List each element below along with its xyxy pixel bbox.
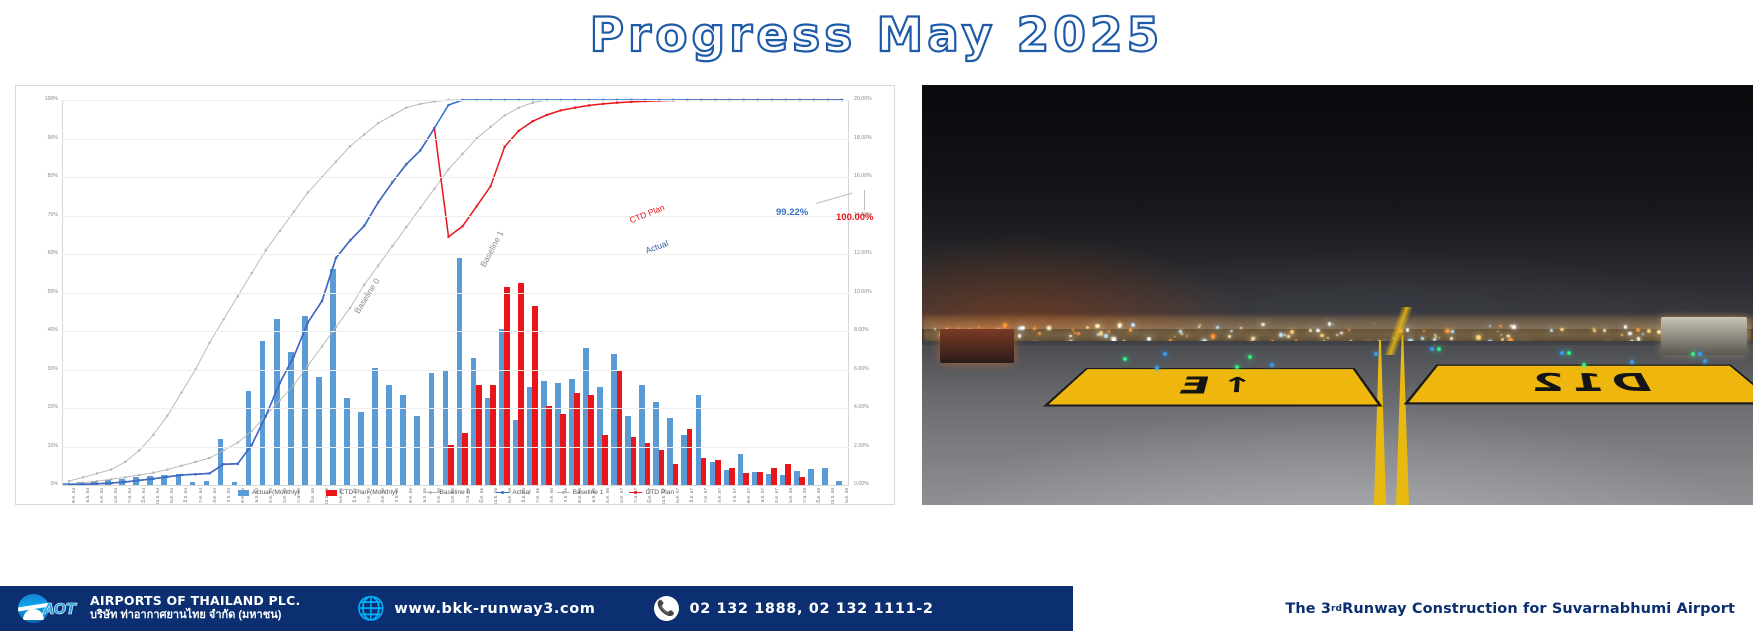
airport-light <box>1020 326 1024 330</box>
runway-marking-E: E ↑ <box>1043 368 1383 407</box>
line-baseline-0-marker <box>96 472 98 474</box>
chart-legend: Actual (Monthly)CTD Plan (Monthly)Baseli… <box>16 489 896 496</box>
airport-light <box>1489 325 1491 327</box>
line-actual-marker <box>265 415 267 417</box>
line-baseline-0-marker <box>265 249 267 251</box>
airport-light <box>1131 323 1135 327</box>
taxiway-edge-light <box>1248 355 1252 359</box>
line-baseline-1-marker <box>124 476 126 478</box>
line-actual-marker <box>377 201 379 203</box>
line-baseline-1-marker <box>532 102 534 104</box>
line-ctd-plan-marker <box>560 109 562 111</box>
airport-light <box>1348 329 1349 330</box>
legend-label: Actual (Monthly) <box>252 489 300 496</box>
line-actual-marker <box>279 382 281 384</box>
airport-light <box>1320 334 1323 337</box>
y-tick-right: 18.00% <box>854 136 872 141</box>
y-tick-left: 60% <box>48 251 58 256</box>
line-baseline-1-marker <box>335 326 337 328</box>
page-title: Progress May 2025 <box>590 8 1164 63</box>
airport-light <box>1497 331 1499 333</box>
line-ctd-plan-marker <box>476 205 478 207</box>
line-actual-marker <box>307 321 309 323</box>
chart-gridline <box>62 408 849 409</box>
line-actual-marker <box>363 225 365 227</box>
photo-sky <box>922 85 1753 329</box>
y-tick-left: 80% <box>48 174 58 179</box>
line-baseline-0-marker <box>293 211 295 213</box>
y-tick-right: 0.00% <box>854 482 869 487</box>
airport-light <box>1186 335 1188 337</box>
line-baseline-0-marker <box>377 122 379 124</box>
airport-light <box>1628 332 1632 336</box>
line-baseline-0-marker <box>223 318 225 320</box>
line-actual-marker <box>335 257 337 259</box>
line-baseline-0-marker <box>279 230 281 232</box>
line-baseline-1-marker <box>180 465 182 467</box>
line-baseline-1-marker <box>447 168 449 170</box>
line-baseline-1-marker <box>194 461 196 463</box>
phone-text: 02 132 1888, 02 132 1111-2 <box>690 601 934 617</box>
line-actual-marker <box>447 104 449 106</box>
chart-gridline <box>62 485 849 486</box>
airport-light <box>1216 326 1219 329</box>
legend-bar-swatch-icon <box>326 490 337 496</box>
line-baseline-0-marker <box>237 295 239 297</box>
taxiway-edge-light <box>1582 363 1586 367</box>
line-actual-marker <box>433 127 435 129</box>
airport-light <box>1336 334 1338 336</box>
chart-plot-area: 0%0.00%10%2.00%20%4.00%30%6.00%40%8.00%5… <box>62 100 849 485</box>
line-baseline-1-marker <box>363 284 365 286</box>
airport-light <box>1501 334 1503 336</box>
legend-label: Actual <box>512 489 530 496</box>
line-baseline-0-marker <box>307 191 309 193</box>
airport-light <box>978 326 980 328</box>
runway-night-photo: E ↑ D12 <box>922 85 1753 505</box>
line-baseline-0-marker <box>251 272 253 274</box>
y-tick-left: 40% <box>48 328 58 333</box>
line-actual-marker <box>419 149 421 151</box>
airport-light <box>1097 333 1099 335</box>
project-title-sup: rd <box>1331 604 1342 614</box>
line-baseline-1-marker <box>251 430 253 432</box>
airport-light <box>1086 326 1089 329</box>
line-baseline-1-marker <box>209 457 211 459</box>
line-baseline-1-marker <box>504 114 506 116</box>
legend-item[interactable]: CTD Plan <box>629 489 674 496</box>
airport-light <box>1230 330 1233 333</box>
y-tick-left: 50% <box>48 290 58 295</box>
y-tick-right: 10.00% <box>854 290 872 295</box>
line-baseline-0-marker <box>82 476 84 478</box>
airport-light <box>1240 327 1242 329</box>
phone-icon: 📞 <box>654 596 679 621</box>
line-baseline-0-marker <box>110 469 112 471</box>
airport-light <box>1340 332 1342 334</box>
airport-light <box>1038 332 1041 335</box>
line-ctd-plan-marker <box>490 185 492 187</box>
line-baseline-1-marker <box>377 265 379 267</box>
airport-light <box>1179 330 1182 333</box>
chart-gridline <box>62 447 849 448</box>
legend-item[interactable]: Baseline 0 <box>424 489 471 496</box>
photo-airport-lights <box>922 322 1753 343</box>
airport-light <box>1129 328 1133 332</box>
line-baseline-0-marker <box>391 114 393 116</box>
line-ctd-plan-marker <box>588 104 590 106</box>
line-baseline-0-marker <box>419 103 421 105</box>
line-actual-marker <box>293 355 295 357</box>
airport-light <box>1451 330 1454 333</box>
airport-light <box>1174 336 1176 338</box>
y-tick-left: 10% <box>48 444 58 449</box>
airport-light <box>1033 327 1036 330</box>
line-ctd-plan-marker <box>574 107 576 109</box>
legend-item[interactable]: Baseline 1 <box>557 489 604 496</box>
line-baseline-0-marker <box>363 134 365 136</box>
line-baseline-0-marker <box>152 434 154 436</box>
chart-gridline <box>62 293 849 294</box>
y-tick-right: 6.00% <box>854 367 869 372</box>
line-actual-marker <box>194 473 196 475</box>
line-ctd-plan-marker <box>447 236 449 238</box>
line-actual-marker <box>223 463 225 465</box>
legend-item[interactable]: CTD Plan (Monthly) <box>326 489 398 496</box>
line-baseline-0-marker <box>166 415 168 417</box>
line-ctd-plan-marker <box>504 146 506 148</box>
runway-arrow-icon: ↑ <box>1218 374 1269 399</box>
line-ctd-plan-marker <box>616 102 618 104</box>
project-title-pre: The 3 <box>1285 601 1331 617</box>
y-tick-left: 70% <box>48 213 58 218</box>
page-footer: AOT AIRPORTS OF THAILAND PLC. บริษัท ท่า… <box>0 586 1753 631</box>
legend-line-swatch-icon <box>496 490 509 496</box>
line-baseline-1-marker <box>518 107 520 109</box>
airport-light <box>1072 329 1074 331</box>
airport-light <box>1003 323 1008 328</box>
website-text: www.bkk-runway3.com <box>394 601 595 617</box>
taxiway-edge-light <box>1235 365 1239 369</box>
airport-light <box>1593 329 1596 332</box>
airport-light <box>1118 324 1121 327</box>
airport-light <box>1290 330 1294 334</box>
y-tick-left: 90% <box>48 136 58 141</box>
chart-gridline <box>62 216 849 217</box>
line-actual-marker <box>405 163 407 165</box>
aot-brand-en: AIRPORTS OF THAILAND PLC. <box>90 594 300 608</box>
airport-light <box>1550 329 1553 332</box>
airport-light <box>1228 335 1231 338</box>
line-baseline-1-marker <box>433 188 435 190</box>
page-title-container: Progress May 2025 <box>0 8 1753 63</box>
y-tick-left: 30% <box>48 367 58 372</box>
aot-brand-text: AIRPORTS OF THAILAND PLC. บริษัท ท่าอากา… <box>90 594 300 622</box>
aot-brand-th: บริษัท ท่าอากาศยานไทย จำกัด (มหาชน) <box>90 609 300 623</box>
airport-light <box>1199 324 1201 326</box>
line-baseline-1-marker <box>96 480 98 482</box>
chart-gridline <box>62 100 849 101</box>
legend-label: Baseline 1 <box>573 489 604 496</box>
airport-light <box>1499 325 1502 328</box>
line-baseline-0-marker <box>138 449 140 451</box>
airport-light <box>1287 335 1291 339</box>
globe-icon: 🌐 <box>358 596 383 621</box>
line-actual-marker <box>152 478 154 480</box>
airport-light <box>1332 324 1334 326</box>
airport-light <box>1621 334 1623 336</box>
airport-light <box>1261 323 1264 326</box>
airport-light <box>1507 335 1509 337</box>
line-baseline-0-marker <box>405 107 407 109</box>
airport-light <box>1077 332 1080 335</box>
y-tick-right: 20.00% <box>854 97 872 102</box>
runway-marking-label-0: E <box>1159 373 1214 400</box>
airport-light <box>1624 325 1627 328</box>
taxiway-edge-light <box>1123 357 1127 361</box>
airport-light <box>1328 322 1331 325</box>
line-actual-marker <box>209 472 211 474</box>
line-baseline-1-marker <box>279 399 281 401</box>
line-baseline-1-marker <box>391 245 393 247</box>
airport-light <box>1327 337 1329 339</box>
legend-line-swatch-icon <box>424 490 437 496</box>
legend-bar-swatch-icon <box>238 490 249 496</box>
runway-marking-D12: D12 <box>1404 365 1753 405</box>
progress-dashboard: Progress May 2025 0%0.00%10%2.00%20%4.00… <box>0 0 1753 631</box>
line-baseline-0-marker <box>349 145 351 147</box>
airport-light <box>1642 333 1644 335</box>
annotation-ctd-value: 100.00% <box>836 212 874 223</box>
line-baseline-1-marker <box>419 207 421 209</box>
legend-item[interactable]: Actual <box>496 489 530 496</box>
line-baseline-1-marker <box>152 472 154 474</box>
line-baseline-1-marker <box>293 384 295 386</box>
line-actual-marker <box>237 463 239 465</box>
taxiway-edge-light <box>1567 351 1571 355</box>
line-baseline-0-marker <box>180 392 182 394</box>
y-tick-right: 2.00% <box>854 444 869 449</box>
line-ctd-plan-marker <box>461 225 463 227</box>
line-baseline-1-marker <box>237 442 239 444</box>
line-actual-marker <box>110 482 112 484</box>
airport-light <box>1316 329 1320 333</box>
y-tick-right: 16.00% <box>854 174 872 179</box>
legend-line-swatch-icon <box>629 490 642 496</box>
line-ctd-plan-marker <box>518 130 520 132</box>
taxiway-edge-light <box>1691 352 1695 356</box>
legend-label: Baseline 0 <box>440 489 471 496</box>
airport-light <box>1099 331 1104 336</box>
line-actual-marker <box>180 474 182 476</box>
line-ctd-plan-marker <box>546 114 548 116</box>
airport-light <box>1309 329 1312 332</box>
chart-gridline <box>62 254 849 255</box>
line-baseline-0-marker <box>335 161 337 163</box>
project-title-post: Runway Construction for Suvarnabhumi Air… <box>1342 601 1735 617</box>
y-tick-right: 8.00% <box>854 328 869 333</box>
chart-gridline <box>62 370 849 371</box>
airport-light <box>1512 325 1516 329</box>
line-ctd-plan-marker <box>532 120 534 122</box>
line-actual-marker <box>166 476 168 478</box>
line-baseline-1-marker <box>461 153 463 155</box>
line-baseline-1-marker <box>349 307 351 309</box>
line-actual-marker <box>391 181 393 183</box>
airport-light <box>1445 329 1450 334</box>
line-actual-marker <box>138 479 140 481</box>
airport-light <box>1069 335 1072 338</box>
airport-light <box>1108 330 1111 333</box>
y-tick-left: 20% <box>48 405 58 410</box>
line-actual-marker <box>321 300 323 302</box>
airport-light <box>1181 333 1182 334</box>
annotation-actual-value: 99.22% <box>776 207 808 218</box>
line-baseline-0-marker <box>124 461 126 463</box>
footer-contact-bar: AOT AIRPORTS OF THAILAND PLC. บริษัท ท่า… <box>0 586 1073 631</box>
airport-light <box>1211 334 1216 339</box>
runway-taxi-curve <box>1370 307 1430 355</box>
airport-light <box>1450 337 1453 340</box>
legend-item[interactable]: Actual (Monthly) <box>238 489 300 496</box>
line-baseline-0-marker <box>68 480 70 482</box>
chart-gridline <box>62 177 849 178</box>
footer-website[interactable]: 🌐 www.bkk-runway3.com <box>358 596 595 621</box>
airport-light <box>1074 332 1076 334</box>
y-tick-right: 4.00% <box>854 405 869 410</box>
line-baseline-1-marker <box>490 126 492 128</box>
airport-light <box>1603 329 1606 332</box>
legend-label: CTD Plan (Monthly) <box>340 489 398 496</box>
line-baseline-1-marker <box>223 449 225 451</box>
airport-light <box>1284 334 1286 336</box>
airport-light <box>1104 334 1108 338</box>
photo-vehicle-left <box>940 329 1014 363</box>
line-baseline-1-marker <box>138 474 140 476</box>
airport-light <box>1279 333 1283 337</box>
runway-marking-label-1: D12 <box>1521 369 1659 398</box>
photo-vehicle-right <box>1661 317 1747 355</box>
taxiway-edge-light <box>1630 360 1634 364</box>
line-ctd-plan-marker <box>630 101 632 103</box>
legend-line-swatch-icon <box>557 490 570 496</box>
taxiway-edge-light <box>1155 366 1159 370</box>
line-baseline-0 <box>69 100 842 481</box>
y-tick-left: 100% <box>45 97 58 102</box>
y-tick-right: 12.00% <box>854 251 872 256</box>
project-title: The 3rd Runway Construction for Suvarnab… <box>1285 586 1735 631</box>
airport-light <box>1560 328 1563 331</box>
legend-label: CTD Plan <box>645 489 674 496</box>
airport-light <box>1095 324 1100 329</box>
footer-phone[interactable]: 📞 02 132 1888, 02 132 1111-2 <box>654 596 934 621</box>
line-baseline-1-marker <box>110 478 112 480</box>
airport-light <box>1047 326 1051 330</box>
line-baseline-1-marker <box>307 365 309 367</box>
airport-light <box>1647 329 1651 333</box>
airport-light <box>1476 335 1480 339</box>
line-baseline-0-marker <box>209 342 211 344</box>
airport-light <box>934 328 936 330</box>
line-actual-marker <box>349 239 351 241</box>
aot-logo: AOT <box>18 593 78 625</box>
line-baseline-1-marker <box>405 226 407 228</box>
leader-line-ctd <box>864 190 865 210</box>
line-baseline-1-marker <box>166 469 168 471</box>
chart-gridline <box>62 139 849 140</box>
chart-gridline <box>62 331 849 332</box>
progress-chart-panel: 0%0.00%10%2.00%20%4.00%30%6.00%40%8.00%5… <box>15 85 895 505</box>
taxiway-edge-light <box>1270 363 1274 367</box>
line-ctd-plan-marker <box>602 103 604 105</box>
airport-light <box>1636 328 1641 333</box>
line-baseline-1-marker <box>321 345 323 347</box>
airport-light <box>1439 337 1441 339</box>
y-tick-left: 0% <box>51 482 59 487</box>
line-actual-marker <box>124 481 126 483</box>
aot-wordmark: AOT <box>43 600 76 618</box>
airport-light <box>1018 334 1022 338</box>
